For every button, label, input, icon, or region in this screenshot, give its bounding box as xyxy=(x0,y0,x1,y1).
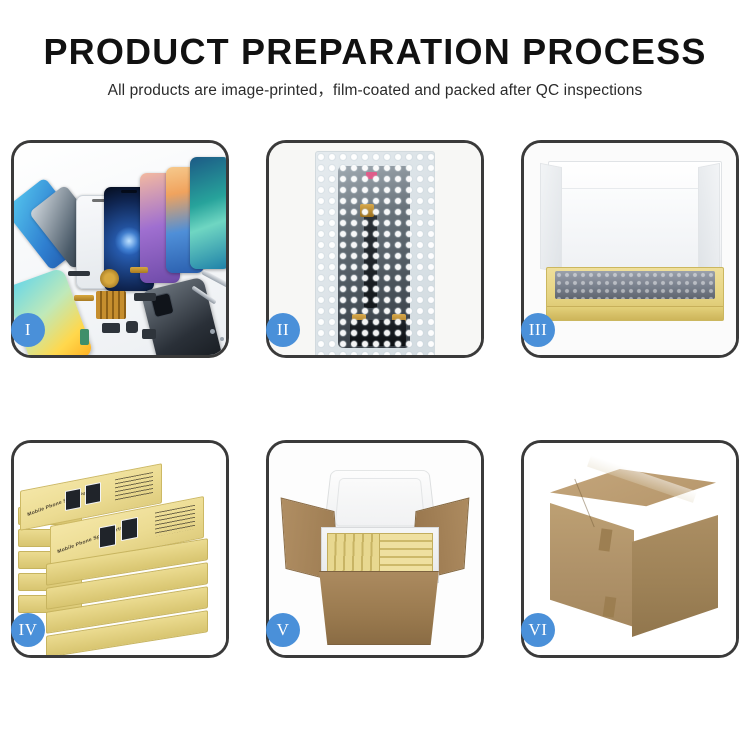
box-print-phone-2 xyxy=(121,517,138,541)
panel-2-image xyxy=(269,143,481,355)
yellow-tray-base xyxy=(546,267,724,321)
bubble-wrapped-contents xyxy=(555,271,715,299)
page-subtitle: All products are image-printed，film-coat… xyxy=(0,81,750,101)
speaker-part xyxy=(142,329,156,339)
step-badge-1: I xyxy=(11,313,45,347)
earpiece-part xyxy=(68,271,90,276)
step-badge-6: VI xyxy=(521,613,555,647)
step-badge-5: V xyxy=(266,613,300,647)
tray-front-edge xyxy=(547,306,723,320)
flex-cable-part-2 xyxy=(74,295,94,301)
flex-cable-part-3 xyxy=(134,293,156,301)
process-step-panel-1[interactable]: I xyxy=(11,140,229,358)
process-step-grid: I II xyxy=(11,140,739,658)
process-step-panel-2[interactable]: II xyxy=(266,140,484,358)
panel-6-image xyxy=(524,443,736,655)
lid-flap-right xyxy=(698,163,720,273)
process-step-panel-3[interactable]: III xyxy=(521,140,739,358)
bubble-texture-overlay xyxy=(316,152,434,355)
box-print-spec-lines xyxy=(155,505,195,537)
process-step-panel-4[interactable]: Mobile Phone Spare Parts Mobile Phone Sp… xyxy=(11,440,229,658)
box-print-spec-lines xyxy=(115,472,153,501)
yellow-boxes-row-right xyxy=(379,533,433,575)
phone-screen-teal xyxy=(190,157,226,269)
screw-part-2 xyxy=(220,337,224,341)
step-badge-2: II xyxy=(266,313,300,347)
brown-carton-body xyxy=(311,571,447,645)
panel-1-image xyxy=(14,143,226,355)
flex-cable-part-1 xyxy=(130,267,148,273)
connector-grid-part xyxy=(96,291,126,319)
white-box-lid xyxy=(548,161,722,279)
lid-flap-left xyxy=(540,163,562,273)
process-step-panel-6[interactable]: VI xyxy=(521,440,739,658)
battery-connector-part xyxy=(102,323,120,333)
box-print-phone-1 xyxy=(65,488,81,511)
sim-tray-part xyxy=(80,329,89,345)
copper-coil-part xyxy=(100,269,119,288)
vibrator-part xyxy=(126,321,138,333)
panel-4-image: Mobile Phone Spare Parts Mobile Phone Sp… xyxy=(14,443,226,655)
step-badge-3: III xyxy=(521,313,555,347)
box-print-phone-1 xyxy=(99,524,116,548)
box-print-phone-2 xyxy=(85,482,101,505)
page-title: PRODUCT PREPARATION PROCESS xyxy=(0,30,750,74)
panel-5-image xyxy=(269,443,481,655)
phone-notch-icon xyxy=(121,190,137,193)
bubble-wrap-bag xyxy=(315,151,435,355)
process-step-panel-5[interactable]: V xyxy=(266,440,484,658)
step-badge-4: IV xyxy=(11,613,45,647)
box-label-text: Mobile Phone Spare Parts xyxy=(27,488,94,518)
screw-part-1 xyxy=(210,329,215,334)
page-header: PRODUCT PREPARATION PROCESS All products… xyxy=(0,0,750,101)
panel-3-image xyxy=(524,143,736,355)
